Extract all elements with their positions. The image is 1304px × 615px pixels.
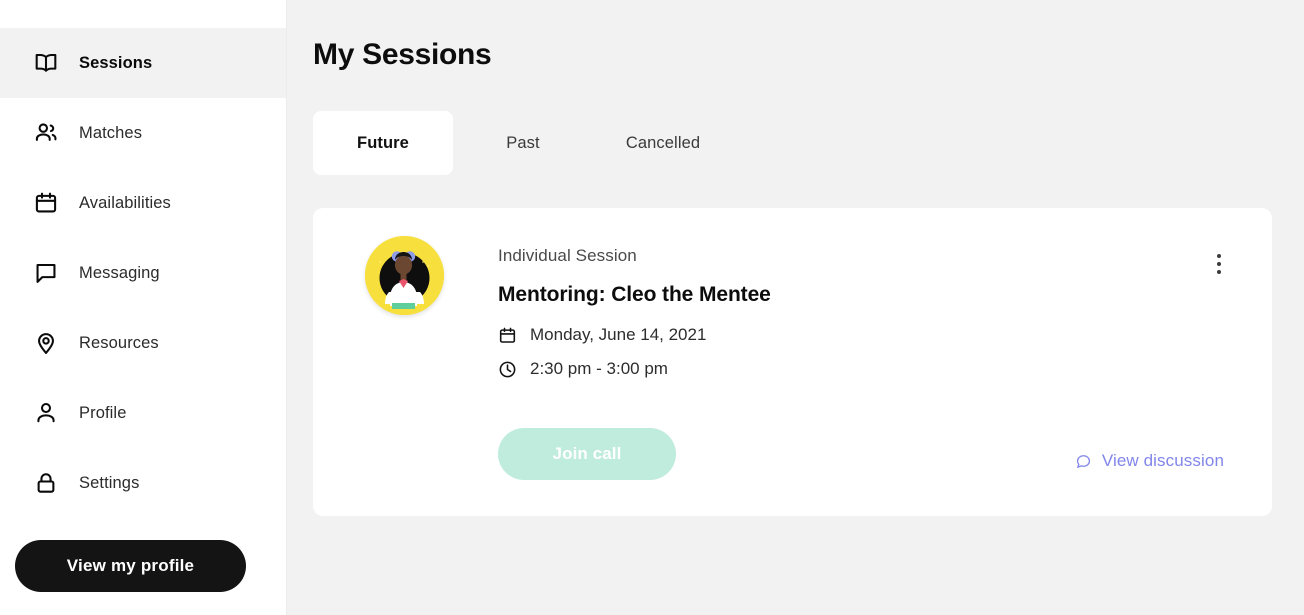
tab-cancelled[interactable]: Cancelled: [593, 111, 733, 175]
sidebar-item-messaging[interactable]: Messaging: [0, 238, 286, 308]
session-time-row: 2:30 pm - 3:00 pm: [498, 359, 1202, 379]
session-title: Mentoring: Cleo the Mentee: [498, 283, 1202, 307]
view-my-profile-button[interactable]: View my profile: [15, 540, 246, 592]
session-card: Individual Session Mentoring: Cleo the M…: [313, 208, 1272, 516]
sidebar-item-label: Settings: [79, 474, 139, 493]
sidebar-item-availabilities[interactable]: Availabilities: [0, 168, 286, 238]
avatar: [365, 236, 444, 315]
sidebar-item-matches[interactable]: Matches: [0, 98, 286, 168]
tab-future[interactable]: Future: [313, 111, 453, 175]
chat-bubble-icon: [1075, 453, 1092, 470]
kebab-dot: [1217, 262, 1221, 266]
kebab-menu-icon[interactable]: [1208, 244, 1230, 284]
pin-icon: [32, 329, 60, 357]
join-call-button[interactable]: Join call: [498, 428, 676, 480]
main-content: My Sessions Future Past Cancelled: [288, 0, 1304, 615]
book-icon: [32, 49, 60, 77]
calendar-icon: [498, 326, 517, 345]
session-filter-tabs: Future Past Cancelled: [313, 111, 733, 175]
user-icon: [32, 399, 60, 427]
view-discussion-link[interactable]: View discussion: [1075, 451, 1224, 471]
sidebar-item-label: Matches: [79, 124, 142, 143]
sidebar-top-spacer: [0, 0, 286, 28]
chat-icon: [32, 259, 60, 287]
sidebar-item-sessions[interactable]: Sessions: [0, 28, 286, 98]
calendar-icon: [32, 189, 60, 217]
view-discussion-label: View discussion: [1102, 451, 1224, 471]
session-date: Monday, June 14, 2021: [530, 325, 706, 345]
session-type: Individual Session: [498, 246, 1202, 266]
session-time: 2:30 pm - 3:00 pm: [530, 359, 668, 379]
sidebar-item-settings[interactable]: Settings: [0, 448, 286, 518]
sidebar-nav-list: Sessions Matches: [0, 28, 286, 518]
users-icon: [32, 119, 60, 147]
clock-icon: [498, 360, 517, 379]
kebab-dot: [1217, 270, 1221, 274]
app-root: Sessions Matches: [0, 0, 1304, 615]
sidebar-item-label: Availabilities: [79, 194, 171, 213]
session-date-row: Monday, June 14, 2021: [498, 325, 1202, 345]
kebab-dot: [1217, 254, 1221, 258]
session-details: Individual Session Mentoring: Cleo the M…: [498, 246, 1202, 379]
sidebar: Sessions Matches: [0, 0, 287, 615]
sidebar-item-label: Resources: [79, 334, 159, 353]
sidebar-item-label: Messaging: [79, 264, 160, 283]
lock-icon: [32, 469, 60, 497]
sidebar-item-label: Profile: [79, 404, 126, 423]
sidebar-item-resources[interactable]: Resources: [0, 308, 286, 378]
sidebar-item-label: Sessions: [79, 54, 152, 73]
sidebar-item-profile[interactable]: Profile: [0, 378, 286, 448]
tab-past[interactable]: Past: [453, 111, 593, 175]
page-title: My Sessions: [313, 38, 491, 72]
